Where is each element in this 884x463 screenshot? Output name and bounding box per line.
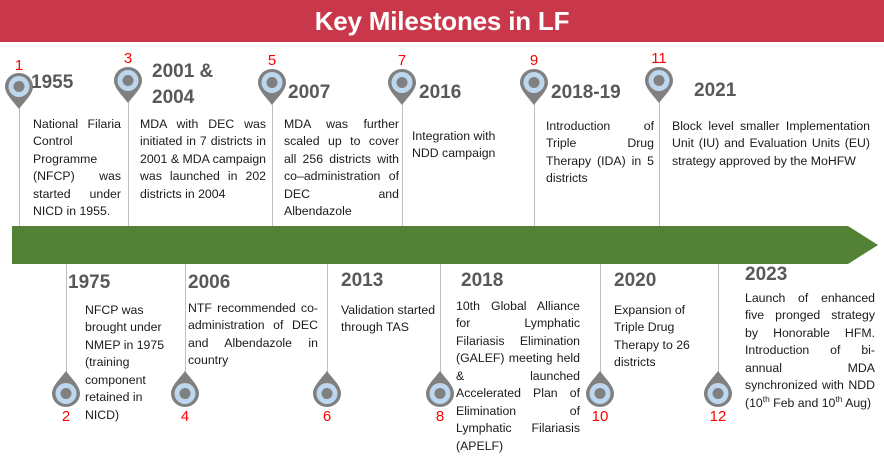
milestone-5-year: 2007 xyxy=(288,82,330,104)
milestone-9-pin-icon xyxy=(519,68,549,106)
milestone-6-year: 2013 xyxy=(341,270,383,292)
milestone-3-number: 3 xyxy=(115,50,141,67)
milestone-11-pin-icon xyxy=(644,66,674,104)
milestone-1-text: National Filaria Control Programme (NFCP… xyxy=(33,116,121,221)
milestone-10-year: 2020 xyxy=(614,270,656,292)
milestone-2-number: 2 xyxy=(53,408,79,425)
page-title: Key Milestones in LF xyxy=(0,0,884,42)
milestone-5-number: 5 xyxy=(259,52,285,69)
milestone-6-text: Validation started through TAS xyxy=(341,302,441,337)
milestone-9-number: 9 xyxy=(521,52,547,69)
milestone-10-number: 10 xyxy=(587,408,613,425)
milestone-9-year: 2018-19 xyxy=(551,82,621,104)
timeline-infographic: Key Milestones in LF 1 1955 National Fil… xyxy=(0,0,884,463)
milestone-2-connector xyxy=(66,264,67,376)
milestone-12-year: 2023 xyxy=(745,264,787,286)
milestone-5-connector xyxy=(272,100,273,226)
milestone-2-pin-icon xyxy=(51,370,81,408)
milestone-4-text: NTF recommended co-administration of DEC… xyxy=(188,300,318,370)
timeline-arrow xyxy=(12,226,878,264)
milestone-10-connector xyxy=(600,264,601,376)
milestone-2-text: NFCP was brought under NMEP in 1975 (tra… xyxy=(85,302,177,424)
milestone-7-connector xyxy=(402,100,403,226)
milestone-3-text: MDA with DEC was initiated in 7 district… xyxy=(140,116,266,203)
milestone-10-text: Expansion of Triple Drug Therapy to 26 d… xyxy=(614,302,718,372)
milestone-6-pin-icon xyxy=(312,370,342,408)
milestone-11-year: 2021 xyxy=(694,80,736,102)
milestone-4-connector xyxy=(185,264,186,376)
milestone-1-connector xyxy=(19,98,20,226)
milestone-4-pin-icon xyxy=(170,370,200,408)
milestone-6-number: 6 xyxy=(314,408,340,425)
milestone-12-text: Launch of enhanced five pronged strategy… xyxy=(745,290,875,412)
milestone-3-connector xyxy=(128,98,129,226)
milestone-5-text: MDA was further scaled up to cover all 2… xyxy=(284,116,399,221)
milestone-6-connector xyxy=(327,264,328,376)
milestone-9-text: Introduction of Triple Drug Therapy (IDA… xyxy=(546,118,654,188)
milestone-8-connector xyxy=(440,264,441,376)
milestone-12-connector xyxy=(718,264,719,376)
milestone-11-connector xyxy=(659,98,660,226)
milestone-10-pin-icon xyxy=(585,370,615,408)
milestone-2-year: 1975 xyxy=(68,272,110,294)
milestone-7-year: 2016 xyxy=(419,82,461,104)
milestone-8-pin-icon xyxy=(425,370,455,408)
milestone-7-number: 7 xyxy=(389,52,415,69)
milestone-8-text: 10th Global Alliance for Lymphatic Filar… xyxy=(456,298,580,455)
milestone-7-text: Integration with NDD campaign xyxy=(412,128,518,163)
milestone-12-pin-icon xyxy=(703,370,733,408)
milestone-11-text: Block level smaller Implementation Unit … xyxy=(672,118,870,170)
milestone-7-pin-icon xyxy=(387,68,417,106)
milestone-11-number: 11 xyxy=(646,50,672,67)
milestone-5-pin-icon xyxy=(257,68,287,106)
milestone-1-pin-icon xyxy=(4,72,34,110)
milestone-1-year: 1955 xyxy=(31,72,73,94)
milestone-4-year: 2006 xyxy=(188,272,230,294)
milestone-12-number: 12 xyxy=(705,408,731,425)
milestone-3-year: 2001 & 2004 xyxy=(152,59,232,110)
milestone-8-year: 2018 xyxy=(461,270,503,292)
milestone-9-connector xyxy=(534,100,535,226)
milestone-4-number: 4 xyxy=(172,408,198,425)
milestone-3-pin-icon xyxy=(113,66,143,104)
milestone-8-number: 8 xyxy=(427,408,453,425)
